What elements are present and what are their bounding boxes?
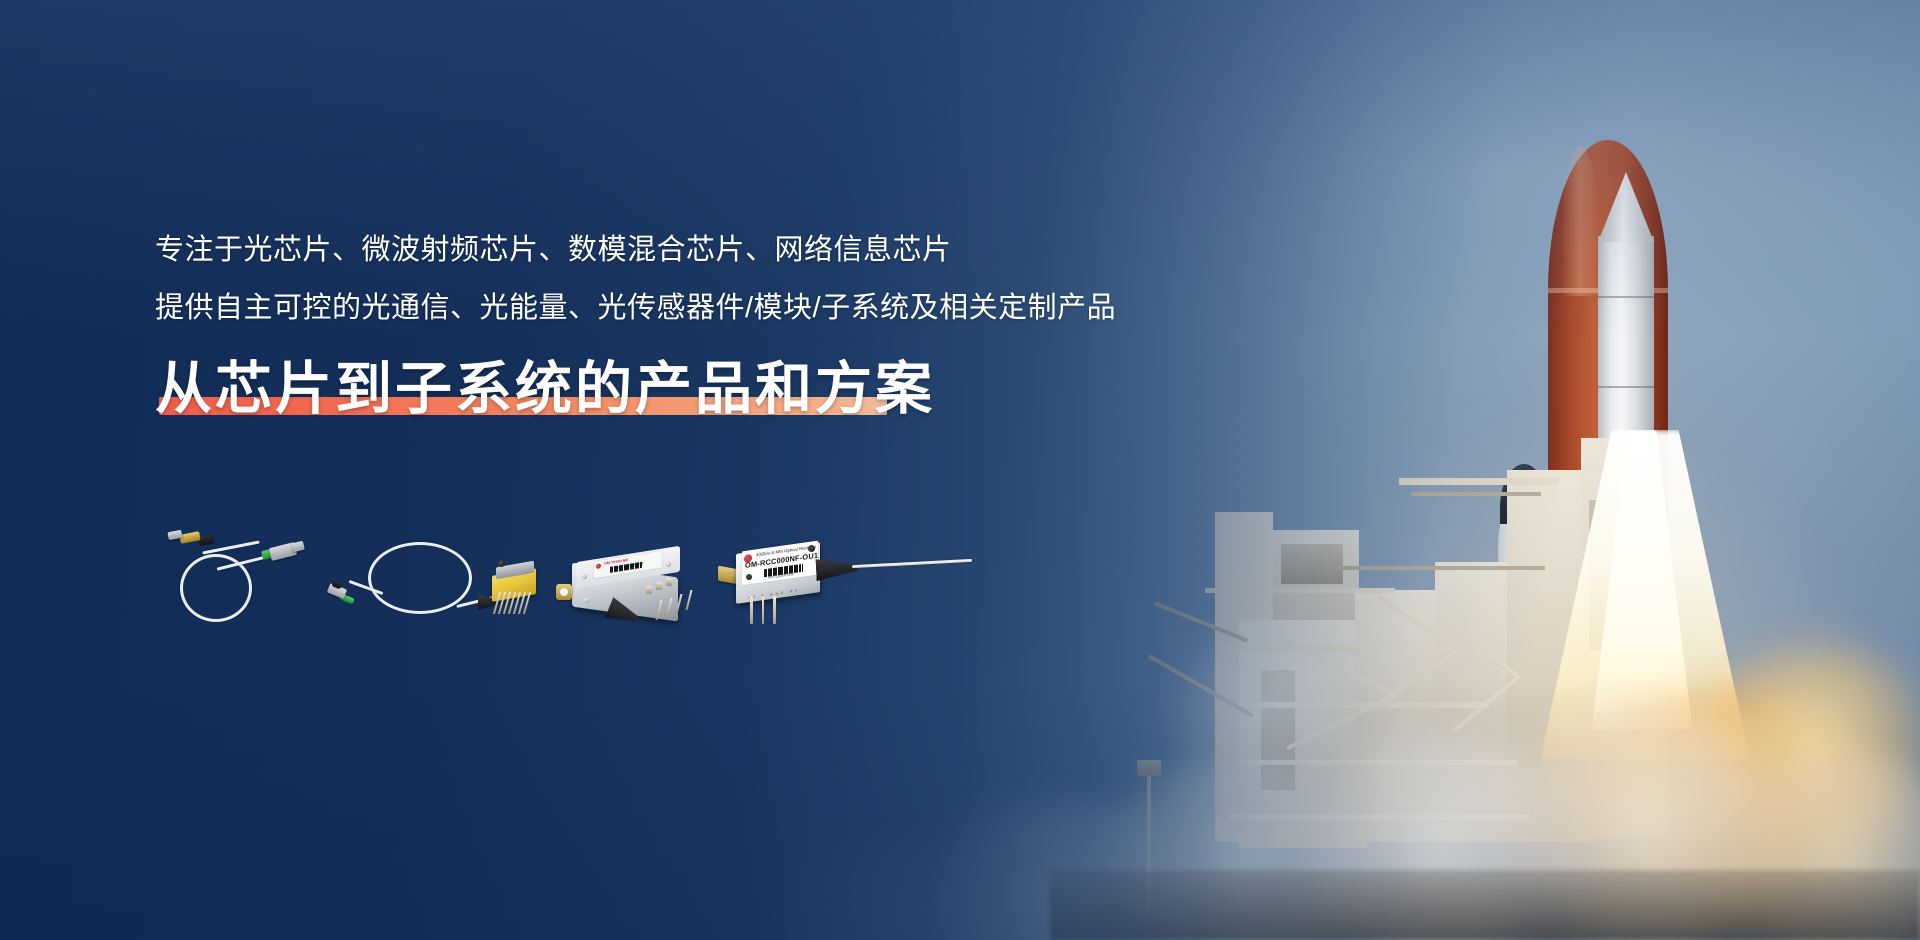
- product-image-row: OM-TX000-NB S/N: QA0001938: [150, 520, 1150, 650]
- product-fiber-patch-cord[interactable]: [158, 520, 318, 630]
- product-butterfly-laser[interactable]: [330, 536, 530, 646]
- page-title: 从芯片到子系统的产品和方案: [155, 356, 935, 423]
- subtitle-line-1: 专注于光芯片、微波射频芯片、数模混合芯片、网络信息芯片: [155, 228, 1255, 274]
- product-optical-receiver[interactable]: 40Gb/s & MM Optical Receiver OM-RCC000NF…: [720, 530, 1040, 650]
- product-rf-module[interactable]: OM-TX000-NB S/N: QA0001938: [550, 544, 730, 654]
- subtitle-line-2: 提供自主可控的光通信、光能量、光传感器件/模块/子系统及相关定制产品: [155, 286, 1255, 332]
- hero-banner: 专注于光芯片、微波射频芯片、数模混合芯片、网络信息芯片 提供自主可控的光通信、光…: [0, 0, 1920, 940]
- hero-content: 专注于光芯片、微波射频芯片、数模混合芯片、网络信息芯片 提供自主可控的光通信、光…: [155, 228, 1255, 423]
- blue-overlay: [0, 0, 1920, 940]
- headline-wrapper: 从芯片到子系统的产品和方案: [155, 356, 935, 423]
